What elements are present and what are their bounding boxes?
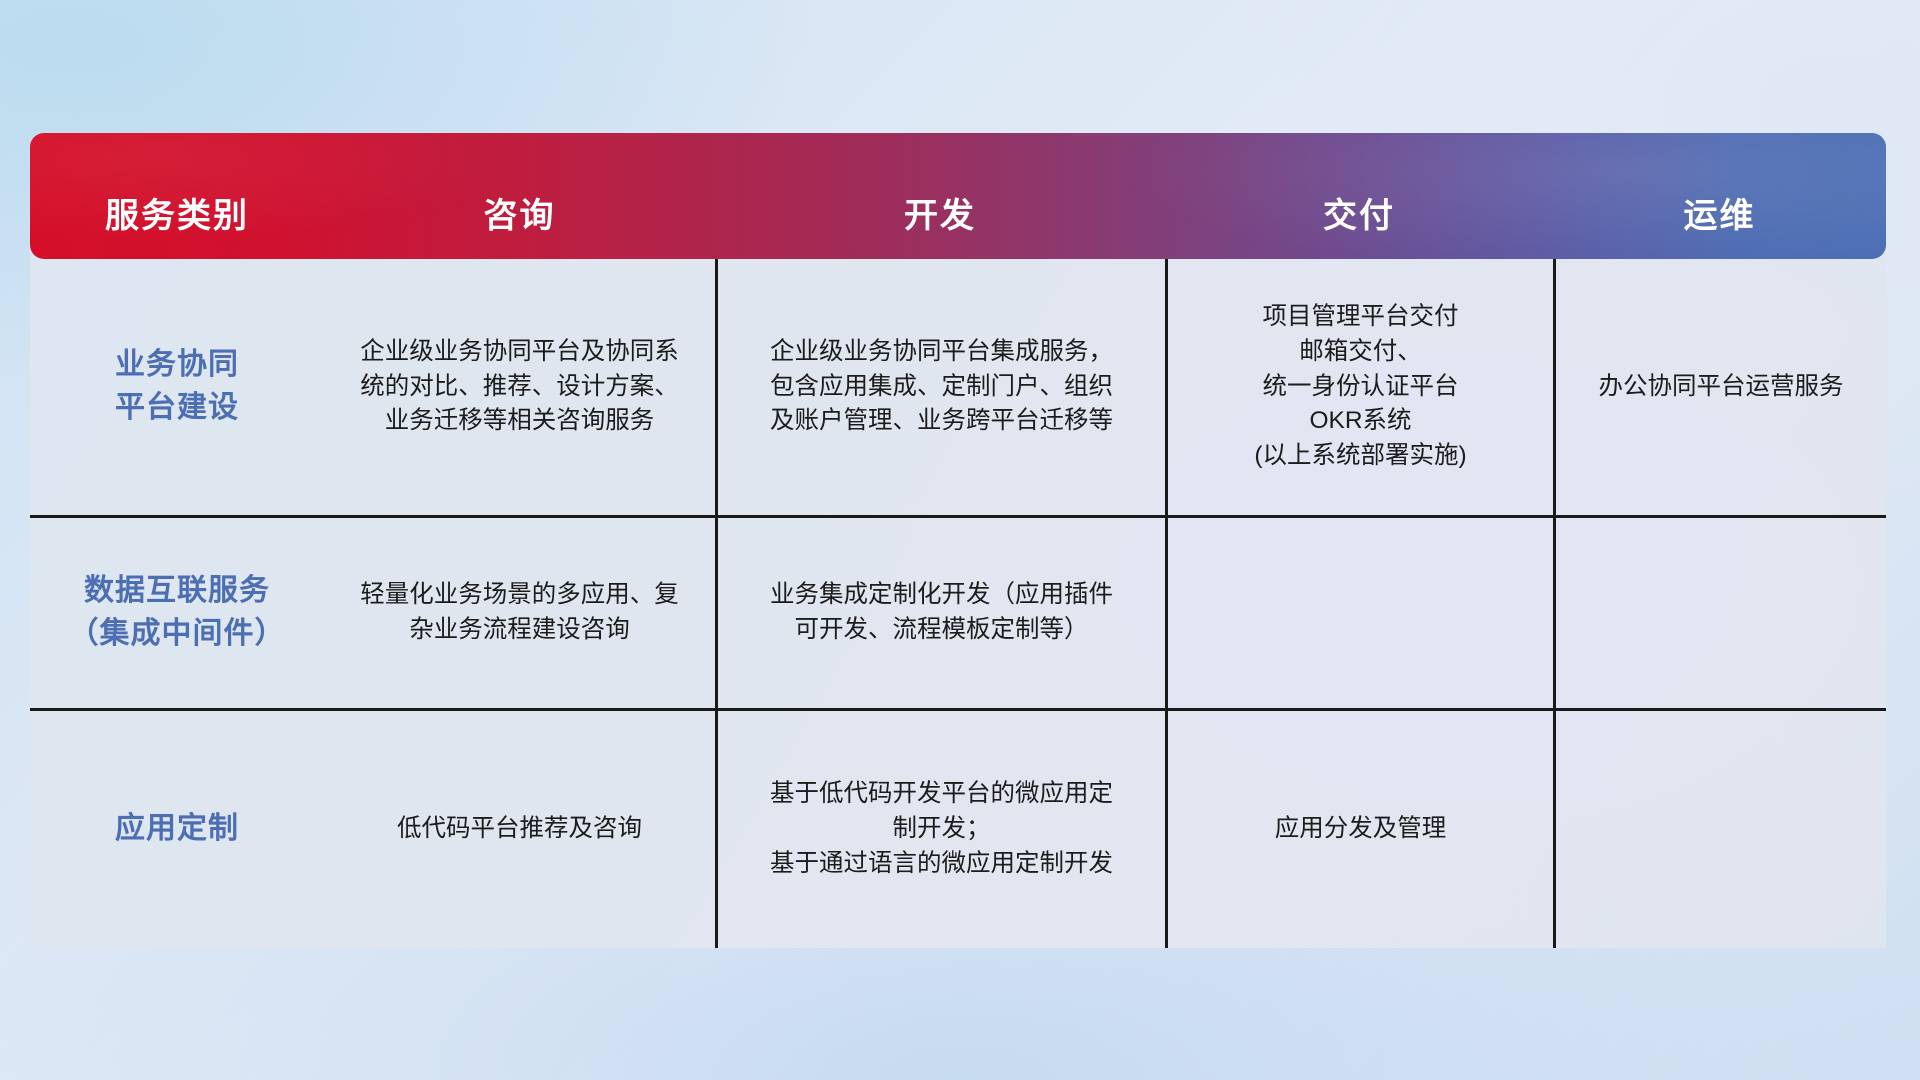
cell-text: 轻量化业务场景的多应用、复 杂业务流程建设咨询 — [360, 578, 679, 648]
cell-category: 数据互联服务 （集成中间件） — [30, 518, 324, 708]
page-root: 服务类别 咨询 开发 交付 运维 业务协同 平台建设 企业级业务协同平台及协同系… — [0, 0, 1920, 1080]
cell-delivery: 应用分发及管理 — [1165, 711, 1553, 948]
cell-text: 企业级业务协同平台集成服务， 包含应用集成、定制门户、组织 及账户管理、业务跨平… — [770, 335, 1113, 439]
cell-category: 业务协同 平台建设 — [30, 259, 324, 515]
cell-development: 企业级业务协同平台集成服务， 包含应用集成、定制门户、组织 及账户管理、业务跨平… — [715, 259, 1165, 515]
cell-text: 办公协同平台运营服务 — [1599, 370, 1844, 405]
header-cell-consulting: 咨询 — [324, 199, 715, 233]
table-body: 业务协同 平台建设 企业级业务协同平台及协同系 统的对比、推荐、设计方案、 业务… — [30, 259, 1886, 948]
header-cell-delivery: 交付 — [1165, 199, 1553, 233]
cell-development: 基于低代码开发平台的微应用定 制开发； 基于通过语言的微应用定制开发 — [715, 711, 1165, 948]
header-cell-development: 开发 — [715, 199, 1165, 233]
table-header-row: 服务类别 咨询 开发 交付 运维 — [30, 133, 1886, 259]
cell-operations — [1553, 711, 1886, 948]
cell-operations — [1553, 518, 1886, 708]
table-row: 应用定制 低代码平台推荐及咨询 基于低代码开发平台的微应用定 制开发； 基于通过… — [30, 708, 1886, 948]
cell-consulting: 轻量化业务场景的多应用、复 杂业务流程建设咨询 — [324, 518, 715, 708]
cell-delivery — [1165, 518, 1553, 708]
cell-consulting: 低代码平台推荐及咨询 — [324, 711, 715, 948]
header-cell-operations: 运维 — [1553, 199, 1886, 233]
category-label: 应用定制 — [115, 808, 239, 851]
cell-delivery: 项目管理平台交付 邮箱交付、 统一身份认证平台 OKR系统 (以上系统部署实施) — [1165, 259, 1553, 515]
service-matrix-table: 服务类别 咨询 开发 交付 运维 业务协同 平台建设 企业级业务协同平台及协同系… — [30, 133, 1886, 948]
cell-text: 低代码平台推荐及咨询 — [397, 812, 642, 847]
cell-text: 业务集成定制化开发（应用插件 可开发、流程模板定制等） — [770, 578, 1113, 648]
cell-category: 应用定制 — [30, 711, 324, 948]
header-cell-service-category: 服务类别 — [30, 199, 324, 233]
category-label: 业务协同 平台建设 — [115, 344, 239, 429]
table-row: 数据互联服务 （集成中间件） 轻量化业务场景的多应用、复 杂业务流程建设咨询 业… — [30, 515, 1886, 708]
cell-text: 企业级业务协同平台及协同系 统的对比、推荐、设计方案、 业务迁移等相关咨询服务 — [360, 335, 679, 439]
category-label: 数据互联服务 （集成中间件） — [69, 570, 286, 655]
cell-text: 项目管理平台交付 邮箱交付、 统一身份认证平台 OKR系统 (以上系统部署实施) — [1254, 300, 1466, 474]
cell-development: 业务集成定制化开发（应用插件 可开发、流程模板定制等） — [715, 518, 1165, 708]
table-row: 业务协同 平台建设 企业级业务协同平台及协同系 统的对比、推荐、设计方案、 业务… — [30, 259, 1886, 515]
cell-operations: 办公协同平台运营服务 — [1553, 259, 1886, 515]
cell-text: 基于低代码开发平台的微应用定 制开发； 基于通过语言的微应用定制开发 — [770, 777, 1113, 881]
cell-consulting: 企业级业务协同平台及协同系 统的对比、推荐、设计方案、 业务迁移等相关咨询服务 — [324, 259, 715, 515]
cell-text: 应用分发及管理 — [1275, 812, 1447, 847]
